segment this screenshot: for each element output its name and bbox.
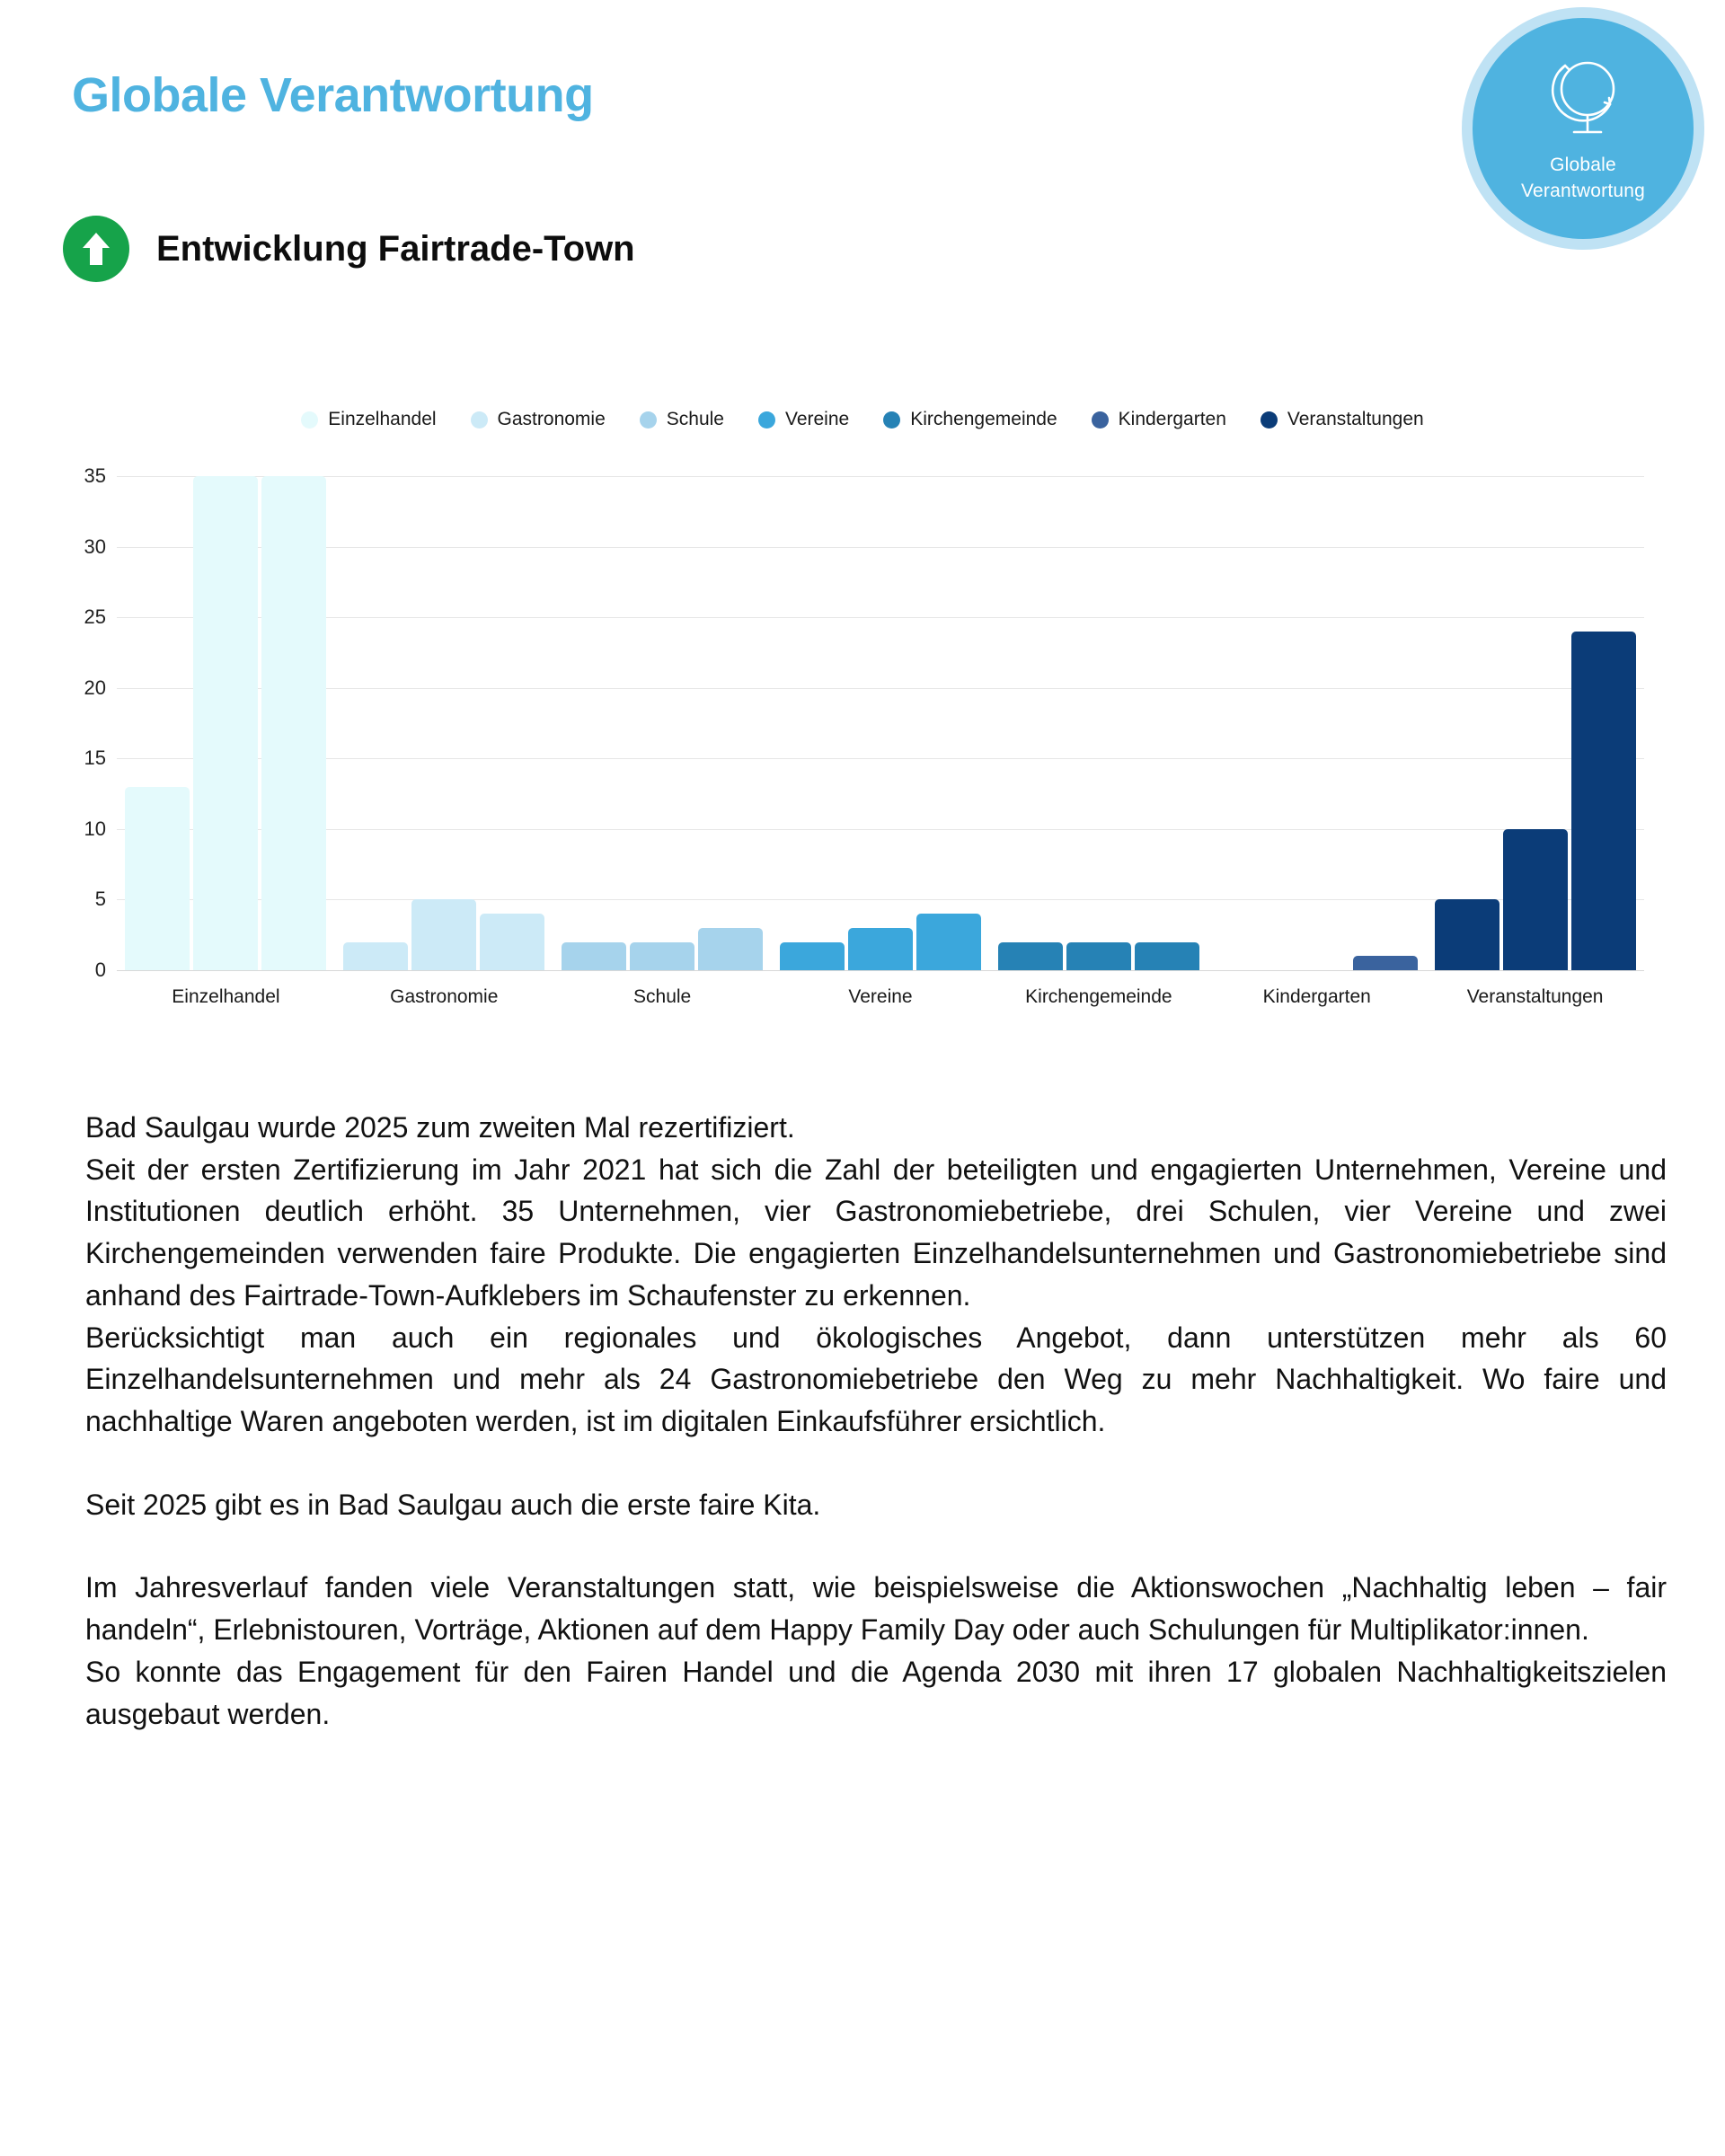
legend-label: Gastronomie — [498, 409, 606, 430]
paragraph-5: Im Jahresverlauf fanden viele Veranstalt… — [85, 1567, 1667, 1650]
legend-item[interactable]: Kindergarten — [1092, 409, 1226, 430]
paragraph-3: Berücksichtigt man auch ein regionales u… — [85, 1317, 1667, 1443]
legend-swatch — [640, 411, 657, 429]
bar[interactable] — [998, 942, 1063, 970]
bar[interactable] — [1066, 942, 1131, 970]
x-axis-tick-label: Veranstaltungen — [1426, 986, 1644, 1008]
bar[interactable] — [480, 914, 544, 970]
bar[interactable] — [1435, 899, 1499, 970]
bar[interactable] — [698, 928, 763, 970]
y-axis-tick-label: 0 — [0, 959, 106, 982]
page-title: Globale Verantwortung — [72, 67, 594, 123]
paragraph-spacer-2 — [85, 1525, 1667, 1567]
bar[interactable] — [1571, 632, 1636, 970]
bar[interactable] — [780, 942, 845, 970]
y-axis-tick-label: 25 — [0, 605, 106, 629]
paragraph-1: Bad Saulgau wurde 2025 zum zweiten Mal r… — [85, 1107, 1667, 1149]
bar[interactable] — [193, 476, 258, 970]
bar-group: Schule — [553, 476, 772, 970]
legend-label: Kirchengemeinde — [910, 409, 1057, 430]
globe-icon — [1538, 55, 1628, 146]
bar[interactable] — [630, 942, 694, 970]
legend-item[interactable]: Kirchengemeinde — [883, 409, 1057, 430]
chart-legend: EinzelhandelGastronomieSchuleVereineKirc… — [0, 409, 1725, 430]
y-axis-tick-label: 30 — [0, 535, 106, 559]
bar[interactable] — [1503, 829, 1568, 970]
paragraph-2: Seit der ersten Zertifizierung im Jahr 2… — [85, 1149, 1667, 1317]
legend-swatch — [1092, 411, 1109, 429]
bar-group: Einzelhandel — [117, 476, 335, 970]
bar[interactable] — [343, 942, 408, 970]
paragraph-spacer-1 — [85, 1443, 1667, 1484]
y-axis-tick-label: 15 — [0, 747, 106, 770]
bar[interactable] — [1135, 942, 1199, 970]
x-axis-tick-label: Einzelhandel — [117, 986, 335, 1008]
badge-label-line1: Globale — [1550, 155, 1616, 177]
badge-label-line2: Verantwortung — [1521, 181, 1645, 203]
bar[interactable] — [261, 476, 326, 970]
paragraph-6: So konnte das Engagement für den Fairen … — [85, 1651, 1667, 1735]
y-axis-tick-label: 5 — [0, 888, 106, 911]
bar[interactable] — [916, 914, 981, 970]
legend-label: Schule — [667, 409, 724, 430]
y-axis-tick-label: 20 — [0, 676, 106, 700]
legend-item[interactable]: Vereine — [758, 409, 849, 430]
x-axis-tick-label: Vereine — [772, 986, 990, 1008]
bar[interactable] — [562, 942, 626, 970]
bar[interactable] — [848, 928, 913, 970]
x-axis-tick-label: Kindergarten — [1207, 986, 1426, 1008]
legend-swatch — [471, 411, 488, 429]
legend-item[interactable]: Veranstaltungen — [1261, 409, 1424, 430]
x-axis-tick-label: Kirchengemeinde — [989, 986, 1207, 1008]
section-heading-row: Entwicklung Fairtrade-Town — [63, 216, 635, 282]
legend-item[interactable]: Einzelhandel — [301, 409, 436, 430]
paragraph-4: Seit 2025 gibt es in Bad Saulgau auch di… — [85, 1484, 1667, 1526]
bar-group: Gastronomie — [335, 476, 553, 970]
legend-label: Kindergarten — [1119, 409, 1226, 430]
legend-swatch — [758, 411, 775, 429]
legend-item[interactable]: Schule — [640, 409, 724, 430]
legend-label: Veranstaltungen — [1287, 409, 1424, 430]
bar-group: Veranstaltungen — [1426, 476, 1644, 970]
chart-bars: EinzelhandelGastronomieSchuleVereineKirc… — [117, 476, 1644, 970]
bar[interactable] — [125, 787, 190, 970]
gridline — [117, 970, 1644, 971]
legend-swatch — [301, 411, 318, 429]
bar-group: Kirchengemeinde — [989, 476, 1207, 970]
x-axis-tick-label: Schule — [553, 986, 772, 1008]
bar[interactable] — [1353, 956, 1418, 970]
y-axis-tick-label: 10 — [0, 817, 106, 841]
legend-label: Einzelhandel — [328, 409, 436, 430]
bar-group: Kindergarten — [1207, 476, 1426, 970]
bar-group: Vereine — [772, 476, 990, 970]
legend-label: Vereine — [785, 409, 849, 430]
fairtrade-bar-chart: EinzelhandelGastronomieSchuleVereineKirc… — [0, 409, 1725, 1074]
globale-verantwortung-badge: Globale Verantwortung — [1462, 7, 1704, 250]
bar[interactable] — [411, 899, 476, 970]
chart-plot-area: 05101520253035 EinzelhandelGastronomieSc… — [117, 476, 1644, 970]
up-arrow-icon — [63, 216, 129, 282]
legend-item[interactable]: Gastronomie — [471, 409, 606, 430]
y-axis-tick-label: 35 — [0, 464, 106, 488]
body-copy: Bad Saulgau wurde 2025 zum zweiten Mal r… — [85, 1107, 1667, 1735]
section-heading-text: Entwicklung Fairtrade-Town — [156, 229, 635, 269]
legend-swatch — [883, 411, 900, 429]
legend-swatch — [1261, 411, 1278, 429]
x-axis-tick-label: Gastronomie — [335, 986, 553, 1008]
